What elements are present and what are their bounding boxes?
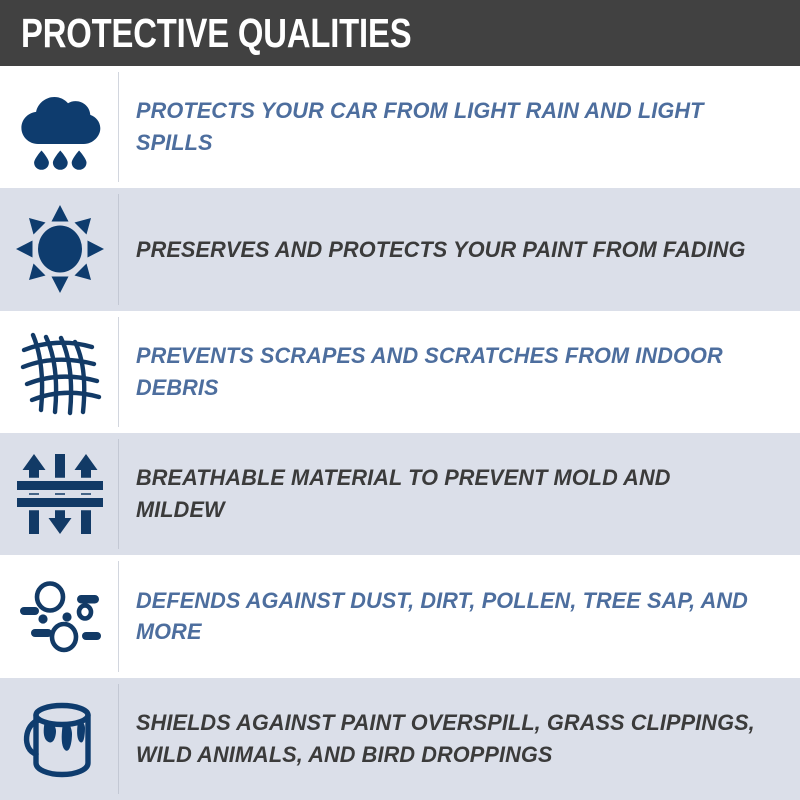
icon-cell xyxy=(0,66,119,188)
text-cell: BREATHABLE MATERIAL TO PREVENT MOLD AND … xyxy=(119,433,800,555)
icon-cell xyxy=(0,188,119,310)
feature-list: PROTECTS YOUR CAR FROM LIGHT RAIN AND LI… xyxy=(0,66,800,800)
feature-row: SHIELDS AGAINST PAINT OVERSPILL, GRASS C… xyxy=(0,678,800,800)
header-bar: PROTECTIVE QUALITIES xyxy=(0,0,800,66)
feature-text: PREVENTS SCRAPES AND SCRATCHES FROM INDO… xyxy=(136,340,759,404)
scratches-mesh-icon xyxy=(14,326,106,418)
icon-cell xyxy=(0,555,119,677)
icon-cell xyxy=(0,311,119,433)
feature-row: PREVENTS SCRAPES AND SCRATCHES FROM INDO… xyxy=(0,311,800,433)
page-title: PROTECTIVE QUALITIES xyxy=(21,13,411,54)
feature-row: DEFENDS AGAINST DUST, DIRT, POLLEN, TREE… xyxy=(0,555,800,677)
text-cell: PROTECTS YOUR CAR FROM LIGHT RAIN AND LI… xyxy=(119,66,800,188)
protective-qualities-infographic: PROTECTIVE QUALITIES PROTEC xyxy=(0,0,800,800)
paint-can-icon xyxy=(14,693,106,785)
text-cell: PRESERVES AND PROTECTS YOUR PAINT FROM F… xyxy=(119,188,800,310)
icon-cell xyxy=(0,433,119,555)
sun-icon xyxy=(14,203,106,295)
text-cell: SHIELDS AGAINST PAINT OVERSPILL, GRASS C… xyxy=(119,678,800,800)
text-cell: PREVENTS SCRAPES AND SCRATCHES FROM INDO… xyxy=(119,311,800,433)
breathable-airflow-arrows-icon xyxy=(14,448,106,540)
feature-text: PRESERVES AND PROTECTS YOUR PAINT FROM F… xyxy=(136,234,746,266)
rain-cloud-icon xyxy=(14,81,106,173)
text-cell: DEFENDS AGAINST DUST, DIRT, POLLEN, TREE… xyxy=(119,555,800,677)
feature-text: SHIELDS AGAINST PAINT OVERSPILL, GRASS C… xyxy=(136,707,759,771)
feature-text: DEFENDS AGAINST DUST, DIRT, POLLEN, TREE… xyxy=(136,585,759,649)
feature-row: BREATHABLE MATERIAL TO PREVENT MOLD AND … xyxy=(0,433,800,555)
dust-particles-icon xyxy=(14,570,106,662)
feature-text: PROTECTS YOUR CAR FROM LIGHT RAIN AND LI… xyxy=(136,95,759,159)
feature-row: PROTECTS YOUR CAR FROM LIGHT RAIN AND LI… xyxy=(0,66,800,188)
feature-row: PRESERVES AND PROTECTS YOUR PAINT FROM F… xyxy=(0,188,800,310)
feature-text: BREATHABLE MATERIAL TO PREVENT MOLD AND … xyxy=(136,462,759,526)
icon-cell xyxy=(0,678,119,800)
